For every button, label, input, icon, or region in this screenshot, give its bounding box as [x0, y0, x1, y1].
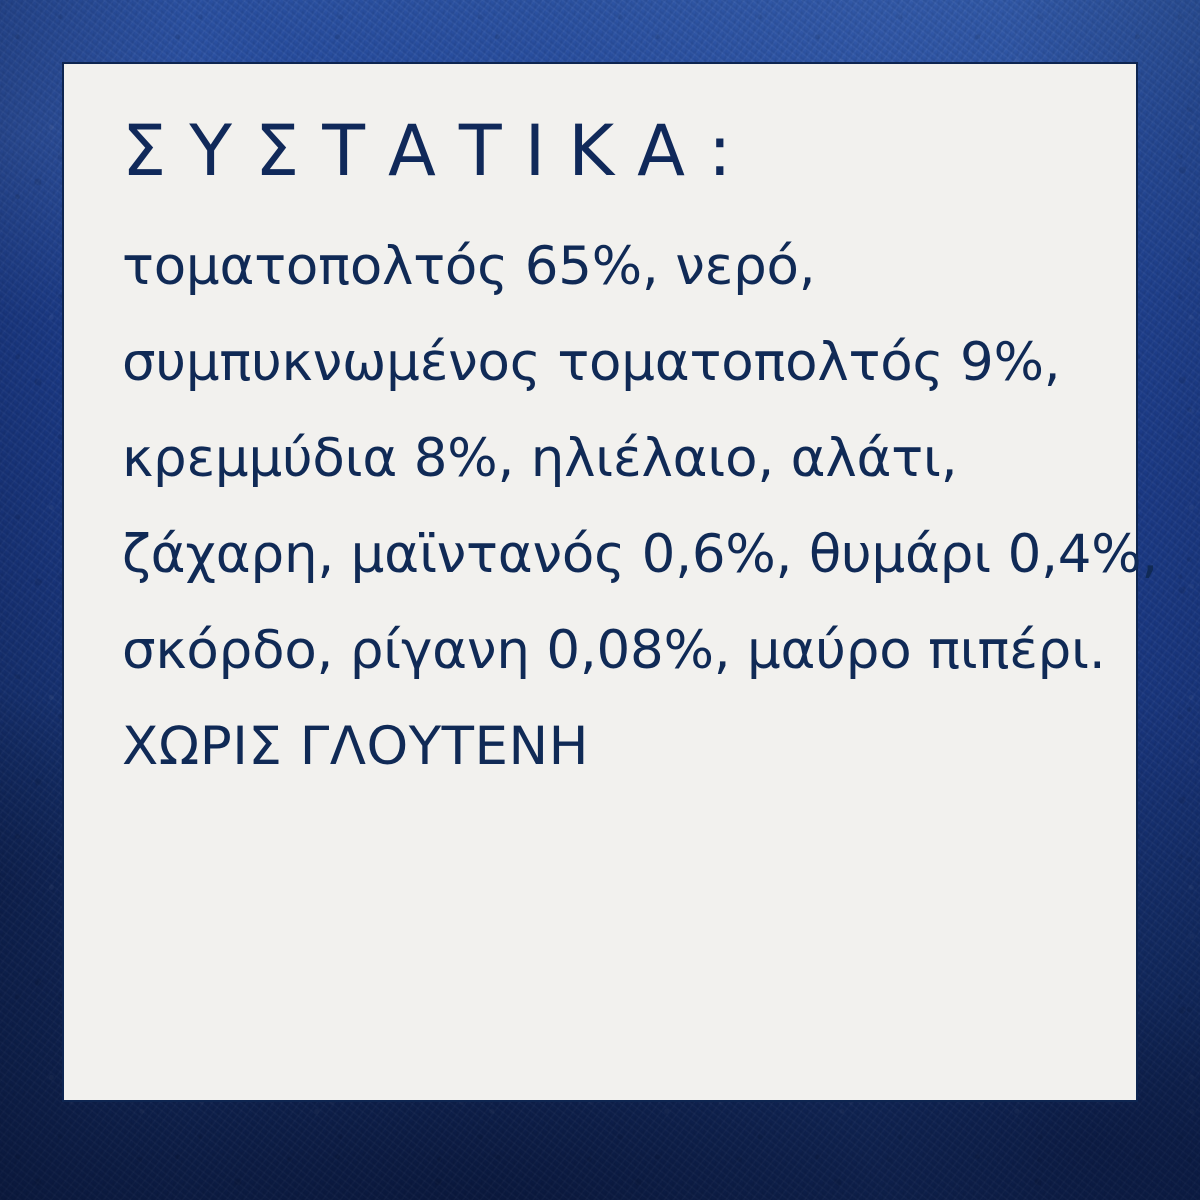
ingredients-list: τοματοπολτός 65%, νερό, συμπυκνωμένος το… — [122, 219, 1112, 795]
gluten-free-claim: ΧΩΡΙΣ ΓΛΟΥΤΕΝΗ — [122, 699, 1112, 795]
ingredients-card: ΣΥΣΤΑΤΙΚΑ: τοματοπολτός 65%, νερό, συμπυ… — [62, 62, 1138, 1102]
ingredients-line: τοματοπολτός 65%, νερό, — [122, 219, 1112, 315]
ingredients-line: συμπυκνωμένος τοματοπολτός 9%, — [122, 315, 1112, 411]
ingredients-line: ζάχαρη, μαϊντανός 0,6%, θυμάρι 0,4%, — [122, 507, 1112, 603]
ingredients-line: σκόρδο, ρίγανη 0,08%, μαύρο πιπέρι. — [122, 603, 1112, 699]
ingredients-heading: ΣΥΣΤΑΤΙΚΑ: — [122, 110, 1112, 193]
ingredients-poster: ΣΥΣΤΑΤΙΚΑ: τοματοπολτός 65%, νερό, συμπυ… — [0, 0, 1200, 1200]
card-content: ΣΥΣΤΑΤΙΚΑ: τοματοπολτός 65%, νερό, συμπυ… — [122, 110, 1112, 795]
ingredients-line: κρεμμύδια 8%, ηλιέλαιο, αλάτι, — [122, 411, 1112, 507]
